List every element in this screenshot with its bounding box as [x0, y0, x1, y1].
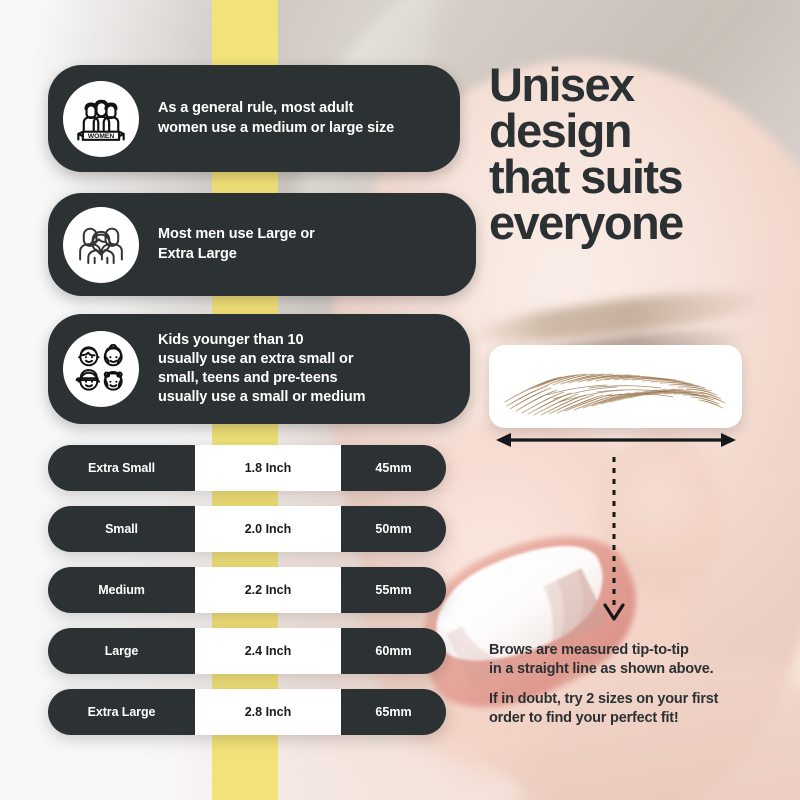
info-card-kids-text: Kids younger than 10 usually use an extr… [158, 331, 365, 408]
women-banner-label: WOMEN [88, 133, 115, 140]
measure-arrow-icon [494, 430, 738, 450]
size-name-cell: Medium [48, 567, 195, 613]
info-card-men-text: Most men use Large or Extra Large [158, 225, 315, 263]
table-row: Extra Small 1.8 Inch 45mm [48, 445, 446, 491]
info-card-kids: Kids younger than 10 usually use an extr… [48, 314, 470, 424]
women-group-icon: WOMEN [63, 81, 139, 157]
size-name-cell: Extra Small [48, 445, 195, 491]
kids-group-icon [63, 331, 139, 407]
size-inch-cell: 2.0 Inch [195, 506, 341, 552]
dashed-down-arrow-icon [585, 455, 645, 625]
size-mm-cell: 60mm [341, 628, 446, 674]
size-inch-cell: 2.8 Inch [195, 689, 341, 735]
size-name-cell: Large [48, 628, 195, 674]
measurement-note: Brows are measured tip-to-tip in a strai… [489, 641, 789, 679]
info-card-men: Most men use Large or Extra Large [48, 193, 476, 296]
eyebrow-illustration [489, 345, 742, 428]
size-mm-cell: 65mm [341, 689, 446, 735]
info-card-women-text: As a general rule, most adult women use … [158, 99, 394, 137]
size-inch-cell: 1.8 Inch [195, 445, 341, 491]
brow-preview-card [489, 345, 742, 428]
table-row: Large 2.4 Inch 60mm [48, 628, 446, 674]
size-mm-cell: 45mm [341, 445, 446, 491]
info-card-women: WOMEN As a general rule, most adult wome… [48, 65, 460, 172]
table-row: Medium 2.2 Inch 55mm [48, 567, 446, 613]
men-group-icon [63, 207, 139, 283]
size-mm-cell: 50mm [341, 506, 446, 552]
table-row: Extra Large 2.8 Inch 65mm [48, 689, 446, 735]
size-inch-cell: 2.2 Inch [195, 567, 341, 613]
size-name-cell: Extra Large [48, 689, 195, 735]
size-mm-cell: 55mm [341, 567, 446, 613]
size-inch-cell: 2.4 Inch [195, 628, 341, 674]
infographic-canvas: WOMEN As a general rule, most adult wome… [0, 0, 800, 800]
page-title: Unisex design that suits everyone [489, 62, 789, 246]
table-row: Small 2.0 Inch 50mm [48, 506, 446, 552]
size-name-cell: Small [48, 506, 195, 552]
sizing-advice-note: If in doubt, try 2 sizes on your first o… [489, 690, 789, 728]
